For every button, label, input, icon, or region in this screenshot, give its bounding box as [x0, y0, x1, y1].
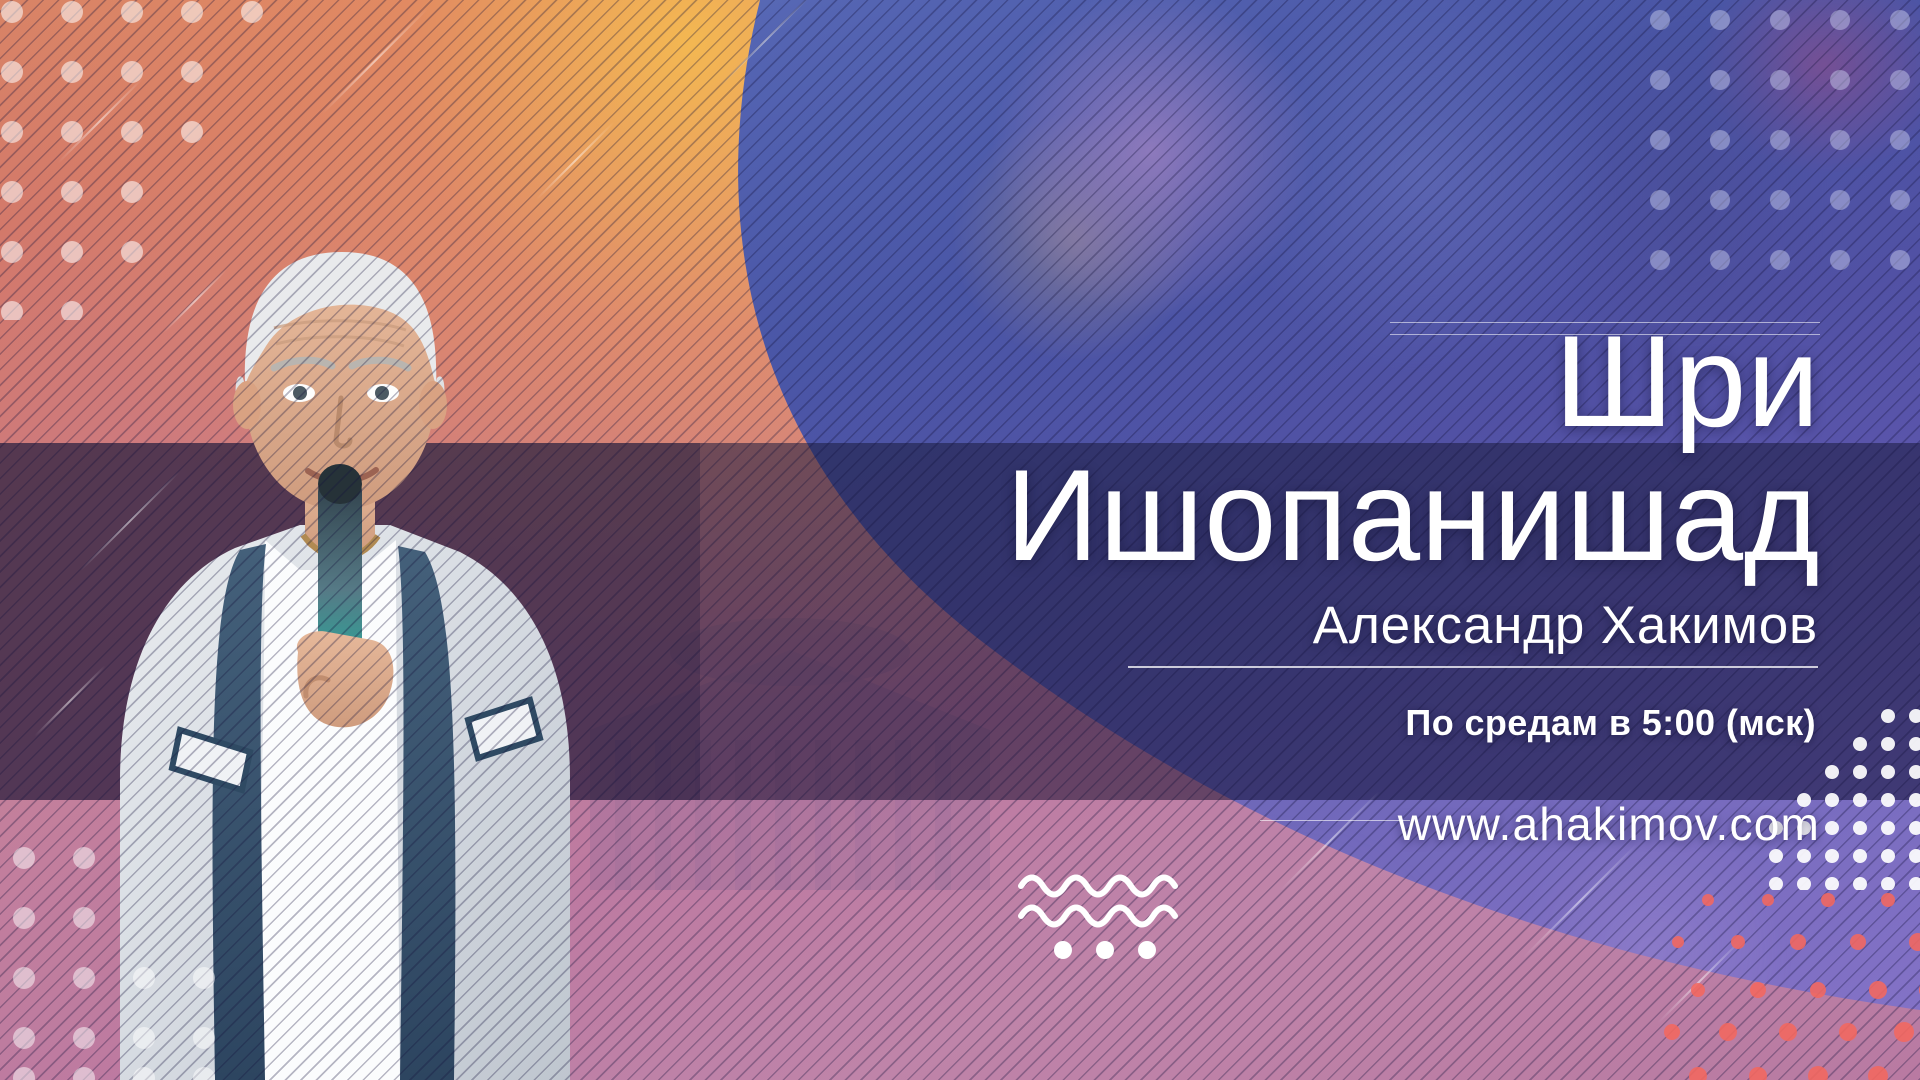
poster-content: Шри Ишопанишад Александр Хакимов По сред… [560, 0, 1880, 1080]
speaker-underline [1128, 666, 1818, 668]
speaker-name: Александр Хакимов [1313, 595, 1818, 656]
website-rule [1260, 820, 1410, 821]
three-dots-icon [1054, 941, 1156, 959]
page-title: Шри Ишопанишад [660, 315, 1820, 583]
title-rule-lower [1390, 334, 1820, 335]
title-line-1: Шри [660, 315, 1820, 449]
wave-lines-icon [1015, 862, 1195, 962]
poster-canvas: Шри Ишопанишад Александр Хакимов По сред… [0, 0, 1920, 1080]
website-url[interactable]: www.ahakimov.com [1398, 797, 1820, 851]
title-line-2: Ишопанишад [660, 449, 1820, 583]
title-rule-upper [1390, 322, 1820, 323]
schedule-text: По средам в 5:00 (мск) [1405, 702, 1816, 744]
